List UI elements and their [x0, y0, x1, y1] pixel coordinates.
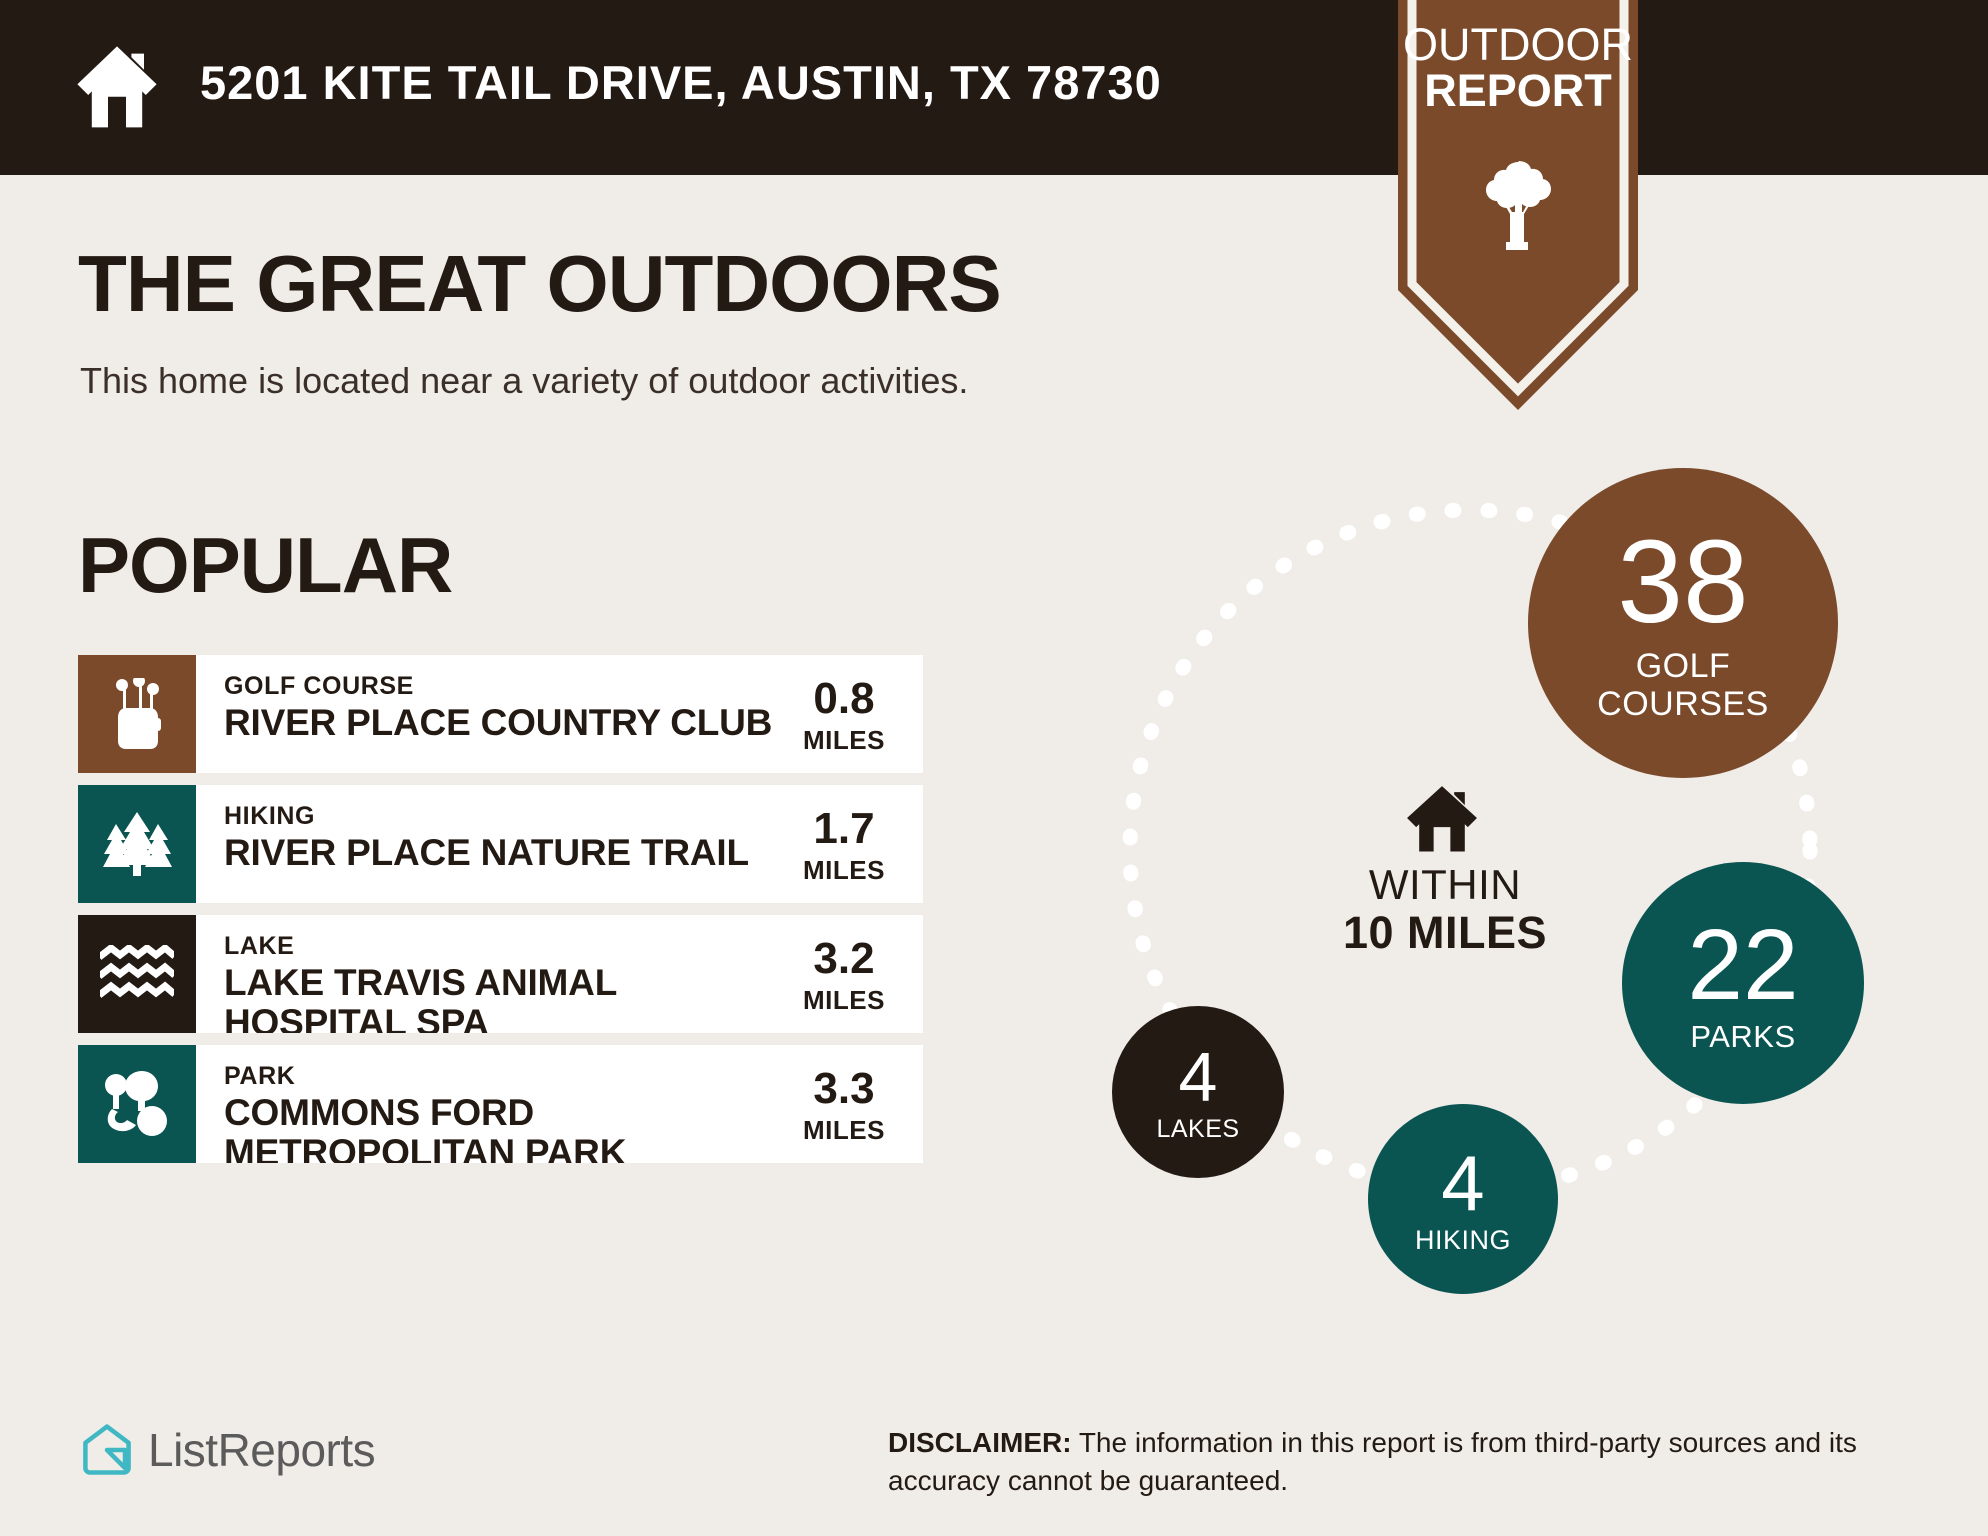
- page-title: THE GREAT OUTDOORS: [78, 238, 1001, 330]
- radius-label: 10 MILES: [1260, 908, 1630, 958]
- logo-text: ListReports: [148, 1423, 375, 1477]
- list-item-name: RIVER PLACE COUNTRY CLUB: [224, 703, 779, 743]
- list-item[interactable]: PARK COMMONS FORD METROPOLITAN PARK 3.3 …: [78, 1045, 923, 1163]
- bubble-label-line1: GOLF: [1636, 647, 1731, 685]
- list-item-category: PARK: [224, 1063, 779, 1089]
- header-bar: 5201 KITE TAIL DRIVE, AUSTIN, TX 78730: [0, 0, 1988, 175]
- property-address: 5201 KITE TAIL DRIVE, AUSTIN, TX 78730: [200, 55, 1162, 110]
- park-tree-path-icon: [102, 1069, 172, 1139]
- listreports-logo[interactable]: ListReports: [80, 1423, 375, 1477]
- distance-value: 3.2: [779, 937, 909, 981]
- list-item-distance: 0.8 MILES: [779, 655, 923, 756]
- within-label: WITHIN: [1260, 862, 1630, 908]
- within-radius-label: WITHIN 10 MILES: [1260, 862, 1630, 958]
- list-item-icon-tile: [78, 785, 196, 903]
- distance-unit: MILES: [779, 985, 909, 1016]
- bubble-value: 38: [1617, 523, 1748, 641]
- distance-value: 3.3: [779, 1067, 909, 1111]
- list-item-name: LAKE TRAVIS ANIMAL HOSPITAL SPA: [224, 963, 779, 1033]
- water-waves-icon: [100, 945, 174, 1003]
- bubble-value: 22: [1687, 915, 1798, 1015]
- list-item-category: HIKING: [224, 803, 779, 829]
- bubble-label-line2: COURSES: [1597, 685, 1769, 723]
- bubble-golf-courses[interactable]: 38 GOLF COURSES: [1528, 468, 1838, 778]
- list-item-category: LAKE: [224, 933, 779, 959]
- pine-trees-icon: [100, 810, 174, 878]
- bubble-hiking[interactable]: 4 HIKING: [1368, 1104, 1558, 1294]
- home-icon: [1404, 783, 1480, 853]
- list-item-category: GOLF COURSE: [224, 673, 779, 699]
- list-item[interactable]: HIKING RIVER PLACE NATURE TRAIL 1.7 MILE…: [78, 785, 923, 903]
- bubble-label-line1: HIKING: [1415, 1227, 1511, 1254]
- list-item-icon-tile: [78, 915, 196, 1033]
- list-item-text: GOLF COURSE RIVER PLACE COUNTRY CLUB: [196, 655, 779, 743]
- page-subtitle: This home is located near a variety of o…: [80, 360, 968, 402]
- listreports-house-tag-icon: [80, 1423, 134, 1477]
- bubble-lakes[interactable]: 4 LAKES: [1112, 1006, 1284, 1178]
- distance-value: 0.8: [779, 677, 909, 721]
- list-item-name: RIVER PLACE NATURE TRAIL: [224, 833, 779, 873]
- list-item-icon-tile: [78, 655, 196, 773]
- bubble-label-line1: LAKES: [1156, 1117, 1239, 1142]
- bubble-parks[interactable]: 22 PARKS: [1622, 862, 1864, 1104]
- disclaimer: DISCLAIMER: The information in this repo…: [888, 1424, 1928, 1500]
- outdoor-report-page: 5201 KITE TAIL DRIVE, AUSTIN, TX 78730 O…: [0, 0, 1988, 1536]
- distance-value: 1.7: [779, 807, 909, 851]
- golf-bag-icon: [106, 678, 168, 750]
- tree-icon: [1486, 160, 1552, 252]
- list-item[interactable]: GOLF COURSE RIVER PLACE COUNTRY CLUB 0.8…: [78, 655, 923, 773]
- distance-unit: MILES: [779, 725, 909, 756]
- list-item[interactable]: LAKE LAKE TRAVIS ANIMAL HOSPITAL SPA 3.2…: [78, 915, 923, 1033]
- list-item-distance: 3.3 MILES: [779, 1045, 923, 1146]
- distance-unit: MILES: [779, 855, 909, 886]
- list-item-name: COMMONS FORD METROPOLITAN PARK: [224, 1093, 779, 1163]
- home-icon: [72, 40, 162, 132]
- list-item-distance: 1.7 MILES: [779, 785, 923, 886]
- list-item-text: PARK COMMONS FORD METROPOLITAN PARK: [196, 1045, 779, 1163]
- popular-list: GOLF COURSE RIVER PLACE COUNTRY CLUB 0.8…: [78, 655, 923, 1175]
- list-item-distance: 3.2 MILES: [779, 915, 923, 1016]
- list-item-text: HIKING RIVER PLACE NATURE TRAIL: [196, 785, 779, 873]
- list-item-text: LAKE LAKE TRAVIS ANIMAL HOSPITAL SPA: [196, 915, 779, 1033]
- distance-unit: MILES: [779, 1115, 909, 1146]
- bubble-value: 4: [1441, 1144, 1484, 1222]
- disclaimer-label: DISCLAIMER:: [888, 1427, 1072, 1458]
- popular-heading: POPULAR: [78, 520, 452, 611]
- list-item-icon-tile: [78, 1045, 196, 1163]
- bubble-value: 4: [1179, 1042, 1218, 1112]
- bubble-label-line1: PARKS: [1690, 1021, 1795, 1052]
- outdoor-report-badge: OUTDOOR REPORT: [1398, 0, 1638, 420]
